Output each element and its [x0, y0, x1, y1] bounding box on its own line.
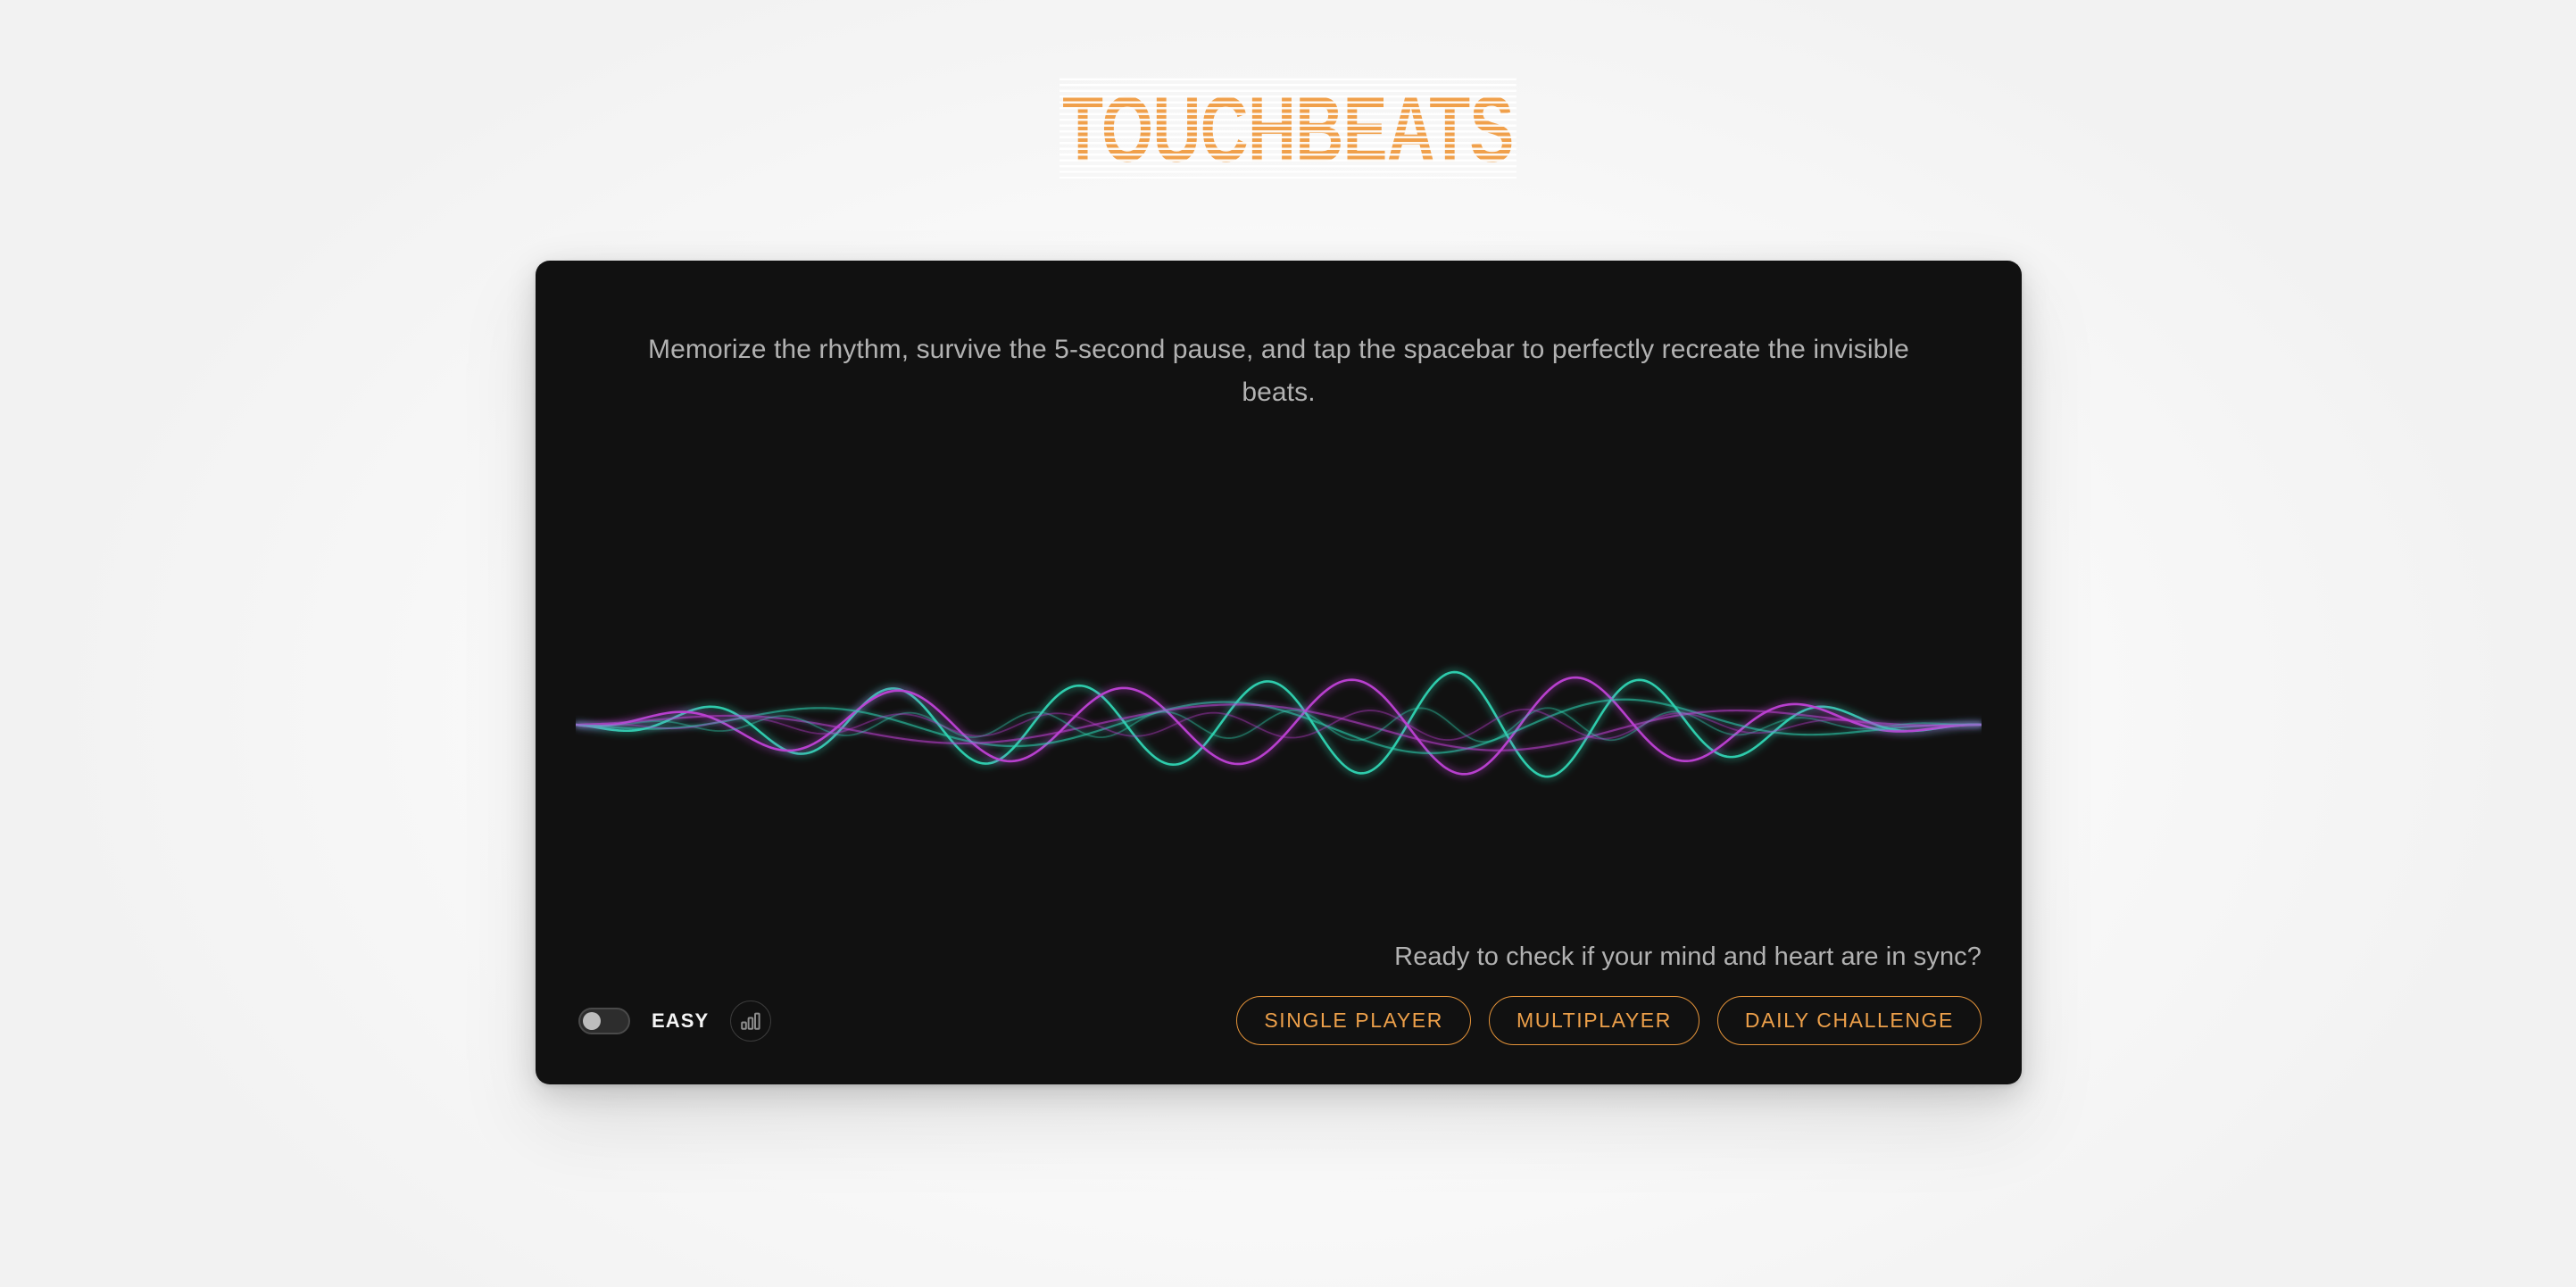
footer-right-controls: Ready to check if your mind and heart ar…: [1236, 941, 1982, 1045]
logo-container: TOUCHBEATS: [0, 86, 2576, 184]
intro-description: Memorize the rhythm, survive the 5-secon…: [645, 328, 1913, 414]
mode-button-single-player[interactable]: SINGLE PLAYER: [1236, 996, 1471, 1045]
stats-button[interactable]: [730, 1001, 771, 1042]
bar-chart-icon: [740, 1011, 761, 1031]
mode-button-daily-challenge[interactable]: DAILY CHALLENGE: [1717, 996, 1982, 1045]
difficulty-toggle[interactable]: [578, 1008, 630, 1034]
wave-path-3: [576, 704, 1982, 750]
difficulty-label: EASY: [652, 1009, 709, 1033]
waveform-visualizer: [576, 618, 1982, 832]
mode-button-multiplayer[interactable]: MULTIPLAYER: [1489, 996, 1699, 1045]
footer-left-controls: EASY: [578, 1001, 771, 1042]
toggle-knob: [583, 1012, 601, 1030]
game-card: Memorize the rhythm, survive the 5-secon…: [536, 261, 2022, 1084]
ready-prompt: Ready to check if your mind and heart ar…: [1236, 941, 1982, 973]
mode-button-group: SINGLE PLAYERMULTIPLAYERDAILY CHALLENGE: [1236, 996, 1982, 1045]
waveform-svg: [576, 618, 1982, 832]
app-root: TOUCHBEATS Memorize the rhythm, survive …: [0, 0, 2576, 1287]
app-logo: TOUCHBEATS: [1062, 82, 1513, 179]
